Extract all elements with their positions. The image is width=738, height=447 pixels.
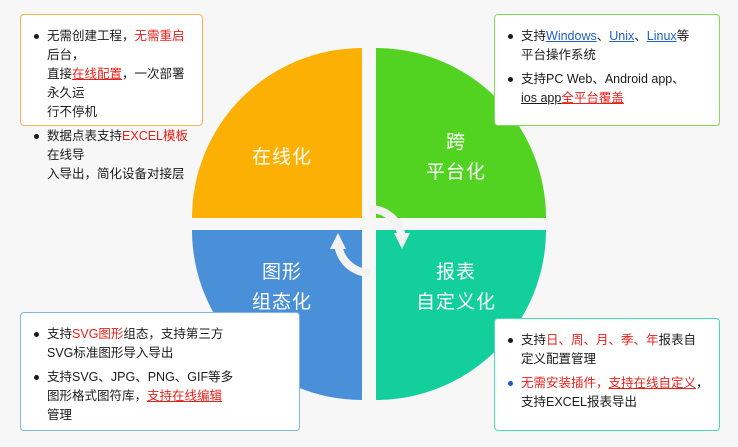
callout-top-left: 无需创建工程，无需重启后台，直接在线配置，一次部署永久运行不停机 数据点表支持E…	[20, 14, 203, 126]
list-item: 无需安装插件，支持在线自定义，支持EXCEL报表导出	[521, 374, 709, 412]
list-item: 支持日、周、月、季、年报表自定义配置管理	[521, 331, 709, 369]
quadrant-online-label-line1: 在线化	[202, 143, 362, 173]
callout-bottom-left-list: 支持SVG图形组态，支持第三方SVG标准图形导入导出 支持SVG、JPG、PNG…	[27, 325, 289, 425]
quadrant-cross-platform-label-line1: 跨	[376, 128, 536, 158]
quadrant-online[interactable]	[192, 48, 362, 218]
quadrant-online-label: 在线化	[202, 143, 362, 173]
bullet-dot-icon	[508, 338, 513, 343]
list-item: 支持PC Web、Android app、ios app全平台覆盖	[521, 70, 709, 108]
list-item: 无需创建工程，无需重启后台，直接在线配置，一次部署永久运行不停机	[47, 27, 192, 122]
bullet-dot-icon	[508, 34, 513, 39]
callout-bottom-left: 支持SVG图形组态，支持第三方SVG标准图形导入导出 支持SVG、JPG、PNG…	[20, 312, 300, 431]
list-item: 支持SVG图形组态，支持第三方SVG标准图形导入导出	[47, 325, 289, 363]
quadrant-report-label-line2: 自定义化	[376, 288, 536, 318]
bullet-dot-icon	[34, 375, 39, 380]
quadrant-cross-platform-label: 跨 平台化	[376, 128, 536, 188]
callout-top-left-list: 无需创建工程，无需重启后台，直接在线配置，一次部署永久运行不停机 数据点表支持E…	[27, 27, 192, 184]
callout-top-right: 支持Windows、Unix、Linux等平台操作系统 支持PC Web、And…	[494, 14, 720, 126]
circular-arrows-icon	[324, 195, 416, 287]
list-item: 支持SVG、JPG、PNG、GIF等多图形格式图符库，支持在线编辑管理	[47, 368, 289, 425]
bullet-dot-icon	[34, 332, 39, 337]
list-item: 数据点表支持EXCEL模板在线导入导出，简化设备对接层	[47, 127, 192, 184]
bullet-dot-icon	[508, 381, 513, 386]
bullet-dot-icon	[34, 34, 39, 39]
bullet-dot-icon	[34, 134, 39, 139]
quadrant-cross-platform-label-line2: 平台化	[376, 158, 536, 188]
list-item: 支持Windows、Unix、Linux等平台操作系统	[521, 27, 709, 65]
quadrant-online-fill	[192, 48, 362, 218]
callout-bottom-right-list: 支持日、周、月、季、年报表自定义配置管理 无需安装插件，支持在线自定义，支持EX…	[501, 331, 709, 412]
callout-bottom-right: 支持日、周、月、季、年报表自定义配置管理 无需安装插件，支持在线自定义，支持EX…	[494, 318, 720, 431]
callout-top-right-list: 支持Windows、Unix、Linux等平台操作系统 支持PC Web、And…	[501, 27, 709, 108]
diagram-canvas: 在线化 跨 平台化 图形 组态化 报表 自定义化 无需创建工程，无需重启后台，直…	[0, 0, 738, 447]
bullet-dot-icon	[508, 77, 513, 82]
